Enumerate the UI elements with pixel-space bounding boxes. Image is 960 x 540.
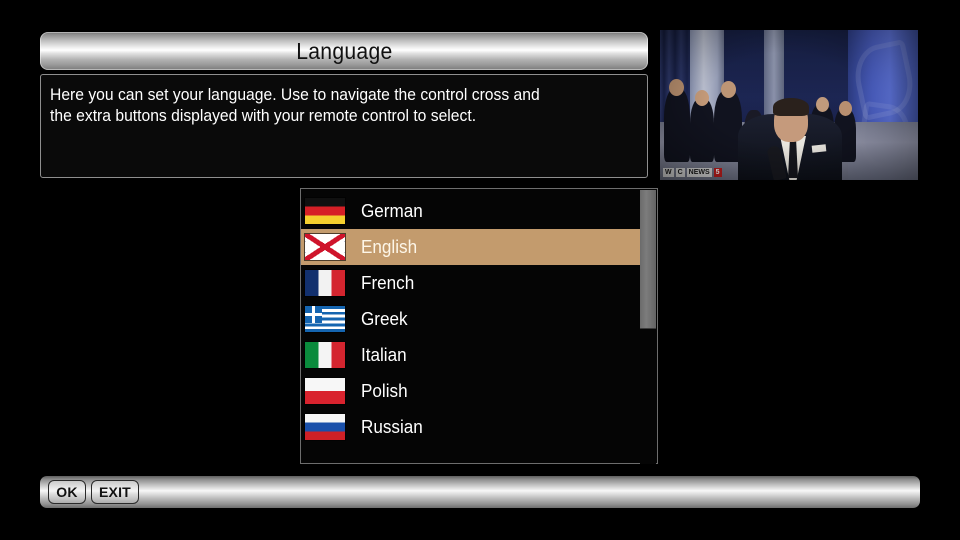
list-item[interactable]: French — [301, 265, 641, 301]
list-item[interactable]: Greek — [301, 301, 641, 337]
list-item-label: German — [361, 201, 423, 222]
page-title: Language — [296, 38, 392, 65]
language-list-panel: German English French Greek Italian Poli — [300, 188, 658, 464]
description-panel: Here you can set your language. Use to n… — [40, 74, 648, 178]
flag-united-kingdom-icon — [305, 234, 345, 260]
flag-italy-icon — [305, 342, 345, 368]
flag-poland-icon — [305, 378, 345, 404]
scrollbar-track[interactable] — [640, 190, 656, 464]
list-item[interactable]: Russian — [301, 409, 641, 445]
list-item-label: Polish — [361, 381, 408, 402]
flag-greece-icon — [305, 306, 345, 332]
list-item[interactable]: German — [301, 193, 641, 229]
list-item[interactable]: Polish — [301, 373, 641, 409]
exit-button[interactable]: EXIT — [91, 480, 139, 504]
description-text: Here you can set your language. Use to n… — [50, 85, 606, 127]
flag-france-icon — [305, 270, 345, 296]
list-item[interactable]: Italian — [301, 337, 641, 373]
live-tv-preview[interactable]: W C NEWS 5 — [660, 30, 918, 180]
flag-germany-icon — [305, 198, 345, 224]
flag-russia-icon — [305, 414, 345, 440]
list-item-label: Greek — [361, 309, 408, 330]
scrollbar-thumb[interactable] — [640, 190, 656, 329]
ok-button-label: OK — [56, 484, 77, 500]
list-item-label: English — [361, 237, 417, 258]
exit-button-label: EXIT — [99, 484, 131, 500]
ok-button[interactable]: OK — [48, 480, 86, 504]
list-item-label: Russian — [361, 417, 423, 438]
list-item-label: Italian — [361, 345, 407, 366]
bottom-button-bar: OK EXIT — [40, 476, 920, 508]
list-item-label: French — [361, 273, 414, 294]
title-bar: Language — [40, 32, 648, 70]
list-item[interactable]: English — [301, 229, 641, 265]
tv-settings-screen: Language Here you can set your language.… — [0, 0, 960, 540]
language-list: German English French Greek Italian Poli — [301, 193, 641, 445]
preview-vignette — [660, 30, 918, 180]
